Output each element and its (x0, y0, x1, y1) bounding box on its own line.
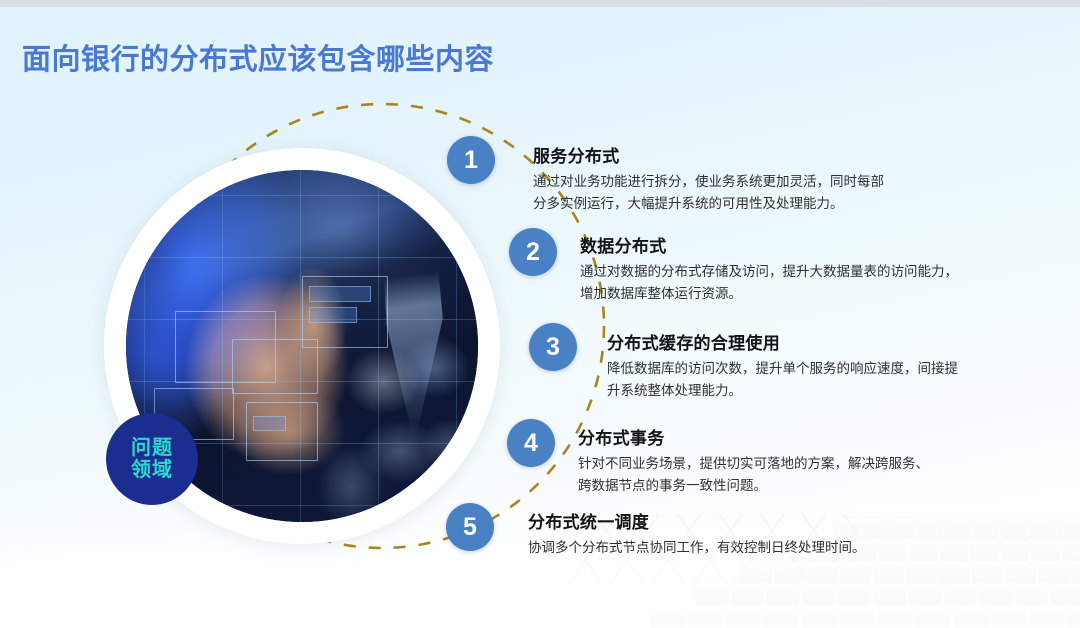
item-1-heading: 服务分布式 (533, 142, 884, 167)
item-3: 分布式缓存的合理使用 降低数据库的访问次数，提升单个服务的响应速度，间接提 升系… (607, 329, 958, 402)
number-badge-2[interactable]: 2 (509, 228, 557, 276)
item-3-body: 降低数据库的访问次数，提升单个服务的响应速度，间接提 升系统整体处理能力。 (607, 358, 958, 402)
problem-domain-line2: 领域 (131, 459, 173, 481)
item-4: 分布式事务 针对不同业务场景，提供切实可落地的方案，解决跨服务、 跨数据节点的事… (578, 424, 929, 497)
item-3-heading: 分布式缓存的合理使用 (607, 329, 958, 354)
number-badge-3[interactable]: 3 (529, 323, 577, 371)
item-2: 数据分布式 通过对数据的分布式存储及访问，提升大数据量表的访问能力， 增加数据库… (580, 232, 958, 305)
problem-domain-badge: 问题 领域 (106, 413, 198, 505)
number-badge-4[interactable]: 4 (507, 419, 555, 467)
page-title: 面向银行的分布式应该包含哪些内容 (22, 36, 494, 78)
item-5-heading: 分布式统一调度 (528, 508, 866, 533)
slide-canvas: 面向银行的分布式应该包含哪些内容 问题 领域 1 2 3 4 5 服务分布式 通… (0, 0, 1080, 628)
item-4-body: 针对不同业务场景，提供切实可落地的方案，解决跨服务、 跨数据节点的事务一致性问题… (578, 453, 929, 497)
item-5: 分布式统一调度 协调多个分布式节点协同工作，有效控制日终处理时间。 (528, 508, 866, 559)
item-1: 服务分布式 通过对业务功能进行拆分，使业务系统更加灵活，同时每部 分多实例运行，… (533, 142, 884, 215)
item-2-body: 通过对数据的分布式存储及访问，提升大数据量表的访问能力， 增加数据库整体运行资源… (580, 261, 958, 305)
number-badge-1[interactable]: 1 (447, 136, 495, 184)
problem-domain-line1: 问题 (131, 437, 173, 459)
top-grey-strip (0, 0, 1080, 7)
item-5-body: 协调多个分布式节点协同工作，有效控制日终处理时间。 (528, 537, 866, 559)
item-4-heading: 分布式事务 (578, 424, 929, 449)
number-badge-5[interactable]: 5 (446, 503, 494, 551)
item-2-heading: 数据分布式 (580, 232, 958, 257)
item-1-body: 通过对业务功能进行拆分，使业务系统更加灵活，同时每部 分多实例运行，大幅提升系统… (533, 171, 884, 215)
